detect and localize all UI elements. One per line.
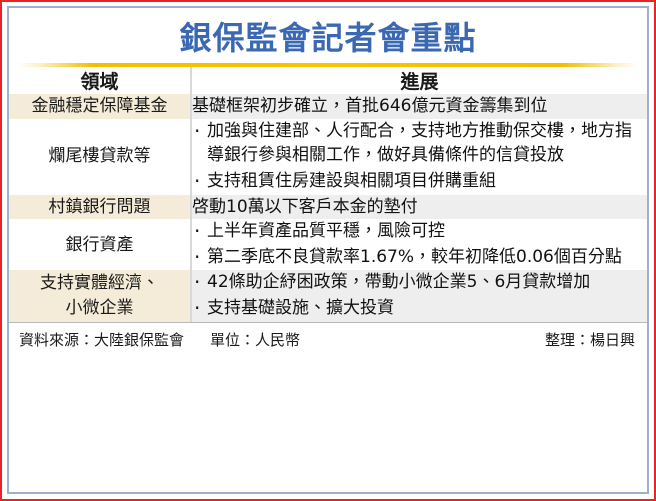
table-row: 爛尾樓貸款等加強與住建部、人行配合，支持地方推動保交樓，地方指導銀行參與相關工作… bbox=[9, 119, 647, 195]
cell-domain: 村鎮銀行問題 bbox=[9, 195, 191, 220]
infographic-card: 銀保監會記者會重點 領域 進展 金融穩定保障基金基礎框架初步確立，首批646億元… bbox=[0, 0, 656, 501]
cell-progress: 啓動10萬以下客戶本金的墊付 bbox=[191, 195, 647, 220]
footer: 資料來源：大陸銀保監會 單位：人民幣 整理：楊日興 bbox=[9, 323, 647, 350]
table-row: 支持實體經濟、小微企業42條助企紓困政策，帶動小微企業5、6月貸款增加支持基礎設… bbox=[9, 270, 647, 321]
column-header-domain: 領域 bbox=[9, 67, 191, 94]
page-title: 銀保監會記者會重點 bbox=[9, 8, 647, 63]
bullet-item: 支持租賃住房建設與相關項目併購重組 bbox=[192, 169, 647, 194]
footer-source: 資料來源：大陸銀保監會 bbox=[19, 329, 184, 350]
bullet-item: 支持基礎設施、擴大投資 bbox=[192, 296, 647, 321]
table-row: 金融穩定保障基金基礎框架初步確立，首批646億元資金籌集到位 bbox=[9, 94, 647, 119]
cell-progress: 加強與住建部、人行配合，支持地方推動保交樓，地方指導銀行參與相關工作，做好具備條… bbox=[191, 119, 647, 195]
table-body: 金融穩定保障基金基礎框架初步確立，首批646億元資金籌集到位爛尾樓貸款等加強與住… bbox=[9, 94, 647, 322]
cell-progress: 上半年資產品質平穩，風險可控第二季底不良貸款率1.67%，較年初降低0.06個百… bbox=[191, 219, 647, 270]
column-header-progress: 進展 bbox=[191, 67, 647, 94]
summary-table: 領域 進展 金融穩定保障基金基礎框架初步確立，首批646億元資金籌集到位爛尾樓貸… bbox=[9, 67, 647, 322]
cell-domain: 金融穩定保障基金 bbox=[9, 94, 191, 119]
cell-progress: 42條助企紓困政策，帶動小微企業5、6月貸款增加支持基礎設施、擴大投資 bbox=[191, 270, 647, 321]
cell-domain: 支持實體經濟、小微企業 bbox=[9, 270, 191, 321]
table-row: 村鎮銀行問題啓動10萬以下客戶本金的墊付 bbox=[9, 195, 647, 220]
cell-domain: 爛尾樓貸款等 bbox=[9, 119, 191, 195]
progress-line: 啓動10萬以下客戶本金的墊付 bbox=[192, 195, 647, 220]
cell-progress: 基礎框架初步確立，首批646億元資金籌集到位 bbox=[191, 94, 647, 119]
bullet-item: 第二季底不良貸款率1.67%，較年初降低0.06個百分點 bbox=[192, 245, 647, 270]
cell-domain: 銀行資產 bbox=[9, 219, 191, 270]
bullet-item: 42條助企紓困政策，帶動小微企業5、6月貸款增加 bbox=[192, 270, 647, 295]
footer-unit: 單位：人民幣 bbox=[210, 329, 300, 350]
bullet-list: 加強與住建部、人行配合，支持地方推動保交樓，地方指導銀行參與相關工作，做好具備條… bbox=[192, 119, 647, 194]
infographic-content: 銀保監會記者會重點 領域 進展 金融穩定保障基金基礎框架初步確立，首批646億元… bbox=[9, 8, 647, 492]
inner-frame: 銀保監會記者會重點 領域 進展 金融穩定保障基金基礎框架初步確立，首批646億元… bbox=[7, 6, 649, 494]
bullet-item: 加強與住建部、人行配合，支持地方推動保交樓，地方指導銀行參與相關工作，做好具備條… bbox=[192, 119, 647, 168]
bullet-list: 42條助企紓困政策，帶動小微企業5、6月貸款增加支持基礎設施、擴大投資 bbox=[192, 270, 647, 320]
progress-line: 基礎框架初步確立，首批646億元資金籌集到位 bbox=[192, 94, 647, 119]
table-row: 銀行資產上半年資產品質平穩，風險可控第二季底不良貸款率1.67%，較年初降低0.… bbox=[9, 219, 647, 270]
bullet-item: 上半年資產品質平穩，風險可控 bbox=[192, 219, 647, 244]
table-header-row: 領域 進展 bbox=[9, 67, 647, 94]
table-header: 領域 進展 bbox=[9, 67, 647, 94]
footer-editor: 整理：楊日興 bbox=[545, 329, 639, 350]
bullet-list: 上半年資產品質平穩，風險可控第二季底不良貸款率1.67%，較年初降低0.06個百… bbox=[192, 219, 647, 269]
